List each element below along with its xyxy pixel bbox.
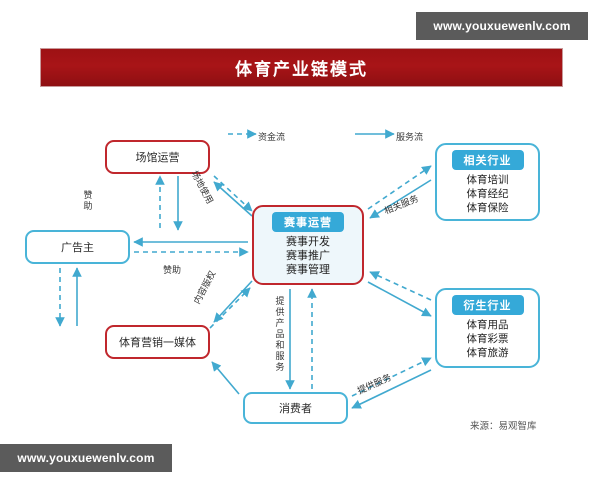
panel-related-industries-items: 体育培训 体育经纪 体育保险 bbox=[467, 173, 509, 215]
node-venue-operations-label: 场馆运营 bbox=[136, 149, 180, 165]
edge-core-to-venue bbox=[214, 182, 252, 216]
edge-derived-to-core bbox=[370, 272, 431, 300]
diagram-canvas: www.youxuewenlv.com 体育产业链模式 bbox=[0, 0, 600, 480]
node-event-operations-header: 赛事运营 bbox=[272, 212, 344, 232]
node-event-operations-items: 赛事开发 赛事推广 赛事管理 bbox=[286, 235, 330, 277]
related-item-0: 体育培训 bbox=[467, 173, 509, 187]
panel-related-industries-header: 相关行业 bbox=[452, 150, 524, 170]
panel-derivative-industries[interactable]: 衍生行业 体育用品 体育彩票 体育旅游 bbox=[435, 288, 540, 368]
node-event-operations[interactable]: 赛事运营 赛事开发 赛事推广 赛事管理 bbox=[252, 205, 364, 285]
related-item-1: 体育经纪 bbox=[467, 187, 509, 201]
node-advertiser-label: 广告主 bbox=[61, 239, 94, 255]
core-item-1: 赛事推广 bbox=[286, 249, 330, 263]
watermark-bottom: www.youxuewenlv.com bbox=[0, 444, 172, 472]
derived-item-0: 体育用品 bbox=[467, 318, 509, 332]
legend-capital-flow-label: 资金流 bbox=[258, 132, 285, 142]
edge-label-sponsor-venue: 赞助 bbox=[82, 190, 94, 212]
source-credit: 来源：易观智库 bbox=[470, 418, 537, 432]
edge-consumer-to-media bbox=[212, 362, 239, 394]
watermark-bottom-text: www.youxuewenlv.com bbox=[17, 451, 154, 465]
related-item-2: 体育保险 bbox=[467, 201, 509, 215]
node-venue-operations[interactable]: 场馆运营 bbox=[105, 140, 210, 174]
legend-service-flow: 服务流 bbox=[396, 130, 423, 143]
legend-service-flow-label: 服务流 bbox=[396, 132, 423, 142]
node-consumer[interactable]: 消费者 bbox=[243, 392, 348, 424]
derived-item-2: 体育旅游 bbox=[467, 346, 509, 360]
edge-core-to-derived bbox=[368, 282, 431, 316]
node-advertiser[interactable]: 广告主 bbox=[25, 230, 130, 264]
edge-label-sponsor-core: 赞助 bbox=[163, 263, 181, 276]
derived-item-1: 体育彩票 bbox=[467, 332, 509, 346]
node-sports-marketing-media[interactable]: 体育营销一媒体 bbox=[105, 325, 210, 359]
panel-derivative-industries-header: 衍生行业 bbox=[452, 295, 524, 315]
node-sports-marketing-media-label: 体育营销一媒体 bbox=[119, 334, 196, 350]
panel-related-industries[interactable]: 相关行业 体育培训 体育经纪 体育保险 bbox=[435, 143, 540, 221]
edge-venue-to-core bbox=[214, 176, 252, 211]
core-item-0: 赛事开发 bbox=[286, 235, 330, 249]
legend-capital-flow: 资金流 bbox=[258, 130, 285, 143]
edge-media-to-core bbox=[210, 288, 250, 328]
node-consumer-label: 消费者 bbox=[279, 400, 312, 416]
core-item-2: 赛事管理 bbox=[286, 263, 330, 277]
edge-label-provide-products: 提供产品和服务 bbox=[274, 296, 286, 373]
panel-derivative-industries-items: 体育用品 体育彩票 体育旅游 bbox=[467, 318, 509, 360]
edge-core-to-media bbox=[214, 281, 252, 322]
